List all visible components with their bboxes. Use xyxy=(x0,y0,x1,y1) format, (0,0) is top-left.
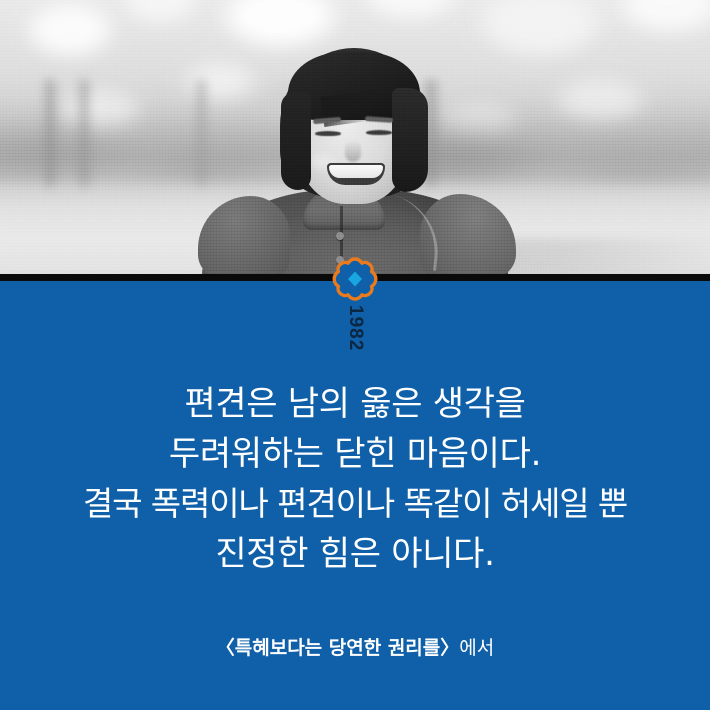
source-attribution: 〈특혜보다는 당연한 권리를〉에서 xyxy=(0,633,710,660)
year-label: 1982 xyxy=(342,305,368,356)
quote-line-2: 두려워하는 닫힌 마음이다. xyxy=(0,429,710,479)
photo-grain xyxy=(0,0,710,274)
quatrefoil-svg xyxy=(332,257,378,303)
quatrefoil-badge-icon xyxy=(332,257,378,303)
source-title: 〈특혜보다는 당연한 권리를〉 xyxy=(216,637,460,659)
quote-card: 1982 편견은 남의 옳은 생각을 두려워하는 닫힌 마음이다. 결국 폭력이… xyxy=(0,0,710,710)
year-text: 1982 xyxy=(344,305,366,351)
portrait-photo xyxy=(0,0,710,274)
quote-line-1: 편견은 남의 옳은 생각을 xyxy=(0,379,710,429)
quote-line-4: 진정한 힘은 아니다. xyxy=(0,529,710,579)
quote-line-3: 결국 폭력이나 편견이나 똑같이 허세일 뿐 xyxy=(0,479,710,529)
source-suffix: 에서 xyxy=(459,637,494,659)
quote-text: 편견은 남의 옳은 생각을 두려워하는 닫힌 마음이다. 결국 폭력이나 편견이… xyxy=(0,379,710,579)
